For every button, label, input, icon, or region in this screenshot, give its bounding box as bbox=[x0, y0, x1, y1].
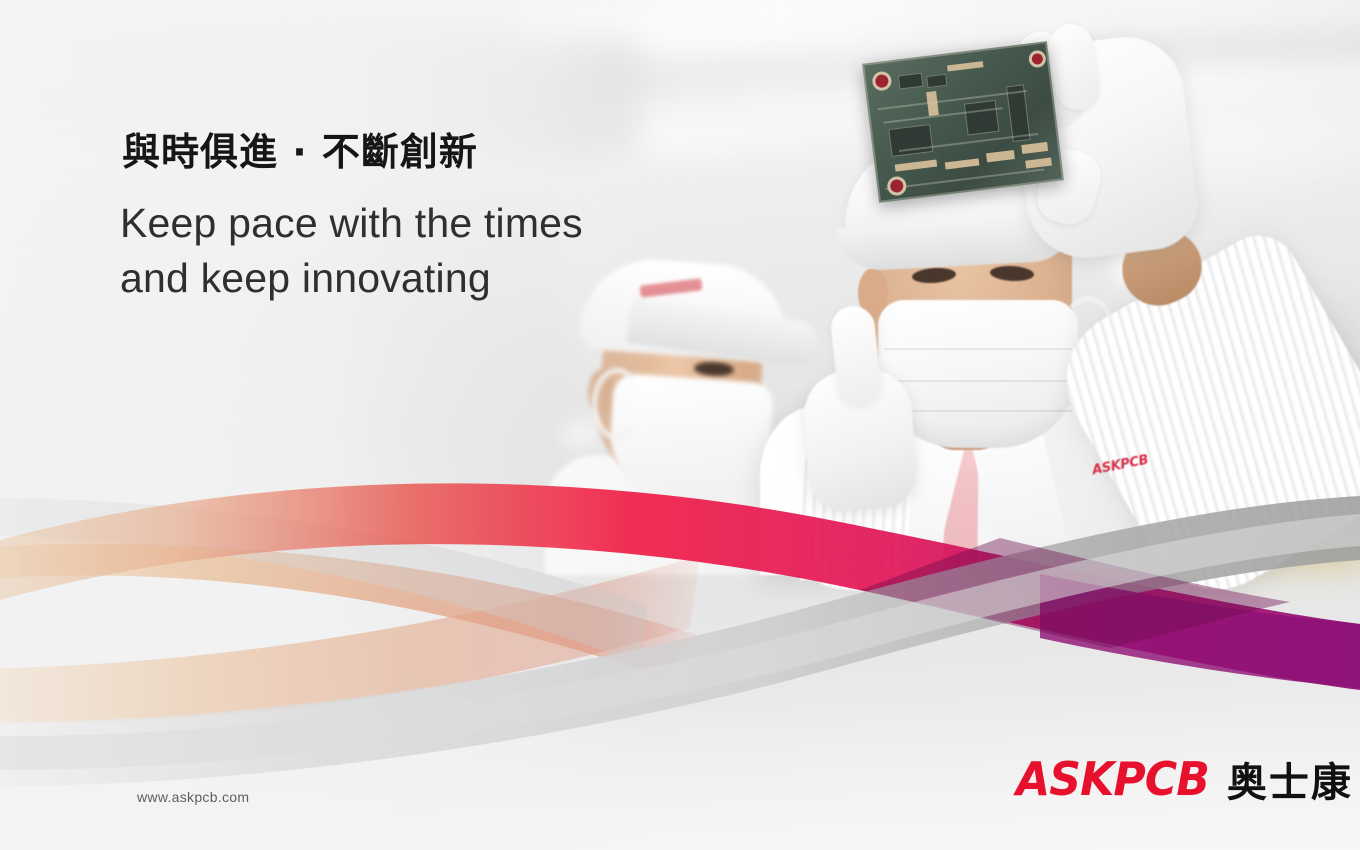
ribbon-graphic bbox=[0, 0, 1360, 850]
logo-chinese-wordmark: 奥士康 bbox=[1227, 750, 1353, 808]
brochure-slide: ASKPCB bbox=[0, 0, 1360, 850]
website-url[interactable]: www.askpcb.com bbox=[137, 789, 249, 805]
page-title-chinese: 與時俱進 · 不斷創新 bbox=[122, 130, 478, 175]
subtitle-line-1: Keep pace with the times bbox=[120, 196, 583, 251]
logo-latin-wordmark: ASKPCB bbox=[1016, 752, 1209, 806]
subtitle-line-2: and keep innovating bbox=[120, 251, 583, 306]
page-subtitle-english: Keep pace with the times and keep innova… bbox=[120, 196, 583, 305]
company-logo: ASKPCB 奥士康 bbox=[1012, 750, 1353, 808]
